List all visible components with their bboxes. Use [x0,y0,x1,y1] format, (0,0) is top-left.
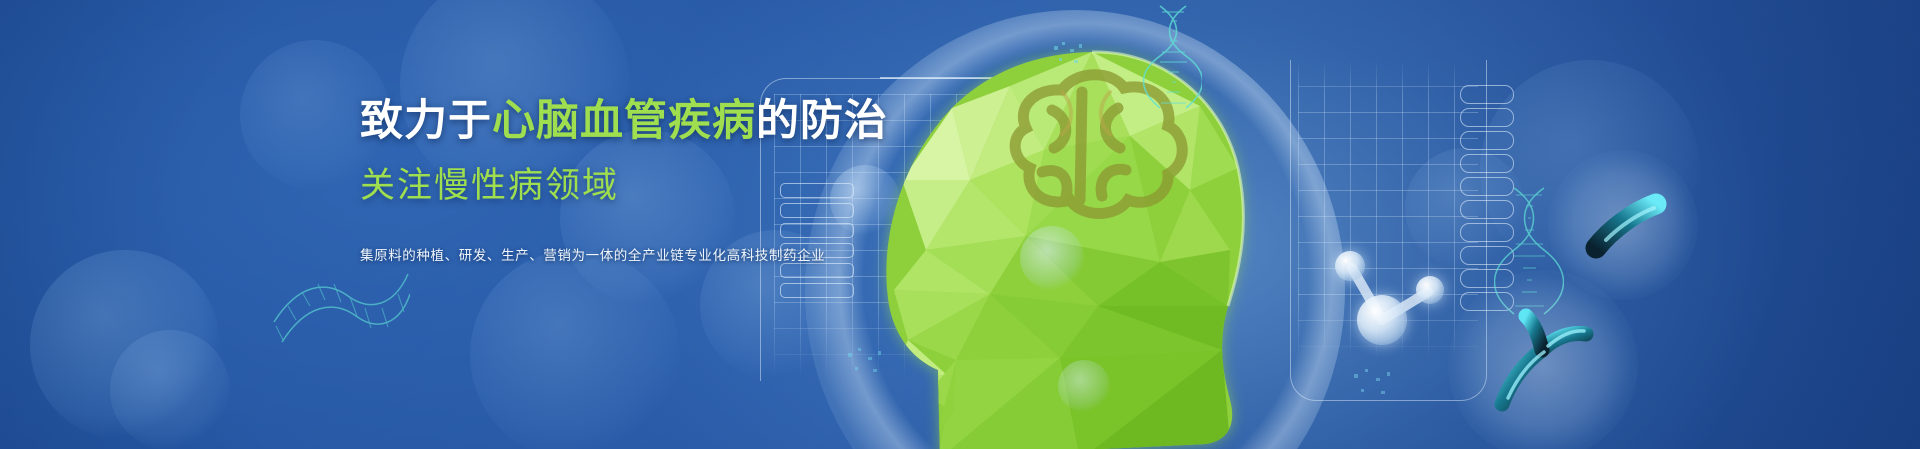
headline-suffix: 的防治 [756,97,888,145]
page-subtitle: 关注慢性病领域 [360,157,830,208]
page-tagline: 集原料的种植、研发、生产、营销为一体的全产业链专业化高科技制药企业 [360,244,830,264]
vignette-overlay [0,0,1920,449]
headline-prefix: 致力于 [360,97,492,145]
headline-accent: 心脑血管疾病 [492,97,756,145]
banner-root: 致力于心脑血管疾病的防治 关注慢性病领域 集原料的种植、研发、生产、营销为一体的… [0,0,1920,449]
page-title: 致力于心脑血管疾病的防治 [360,96,830,147]
hero-copy: 致力于心脑血管疾病的防治 关注慢性病领域 集原料的种植、研发、生产、营销为一体的… [360,96,830,264]
